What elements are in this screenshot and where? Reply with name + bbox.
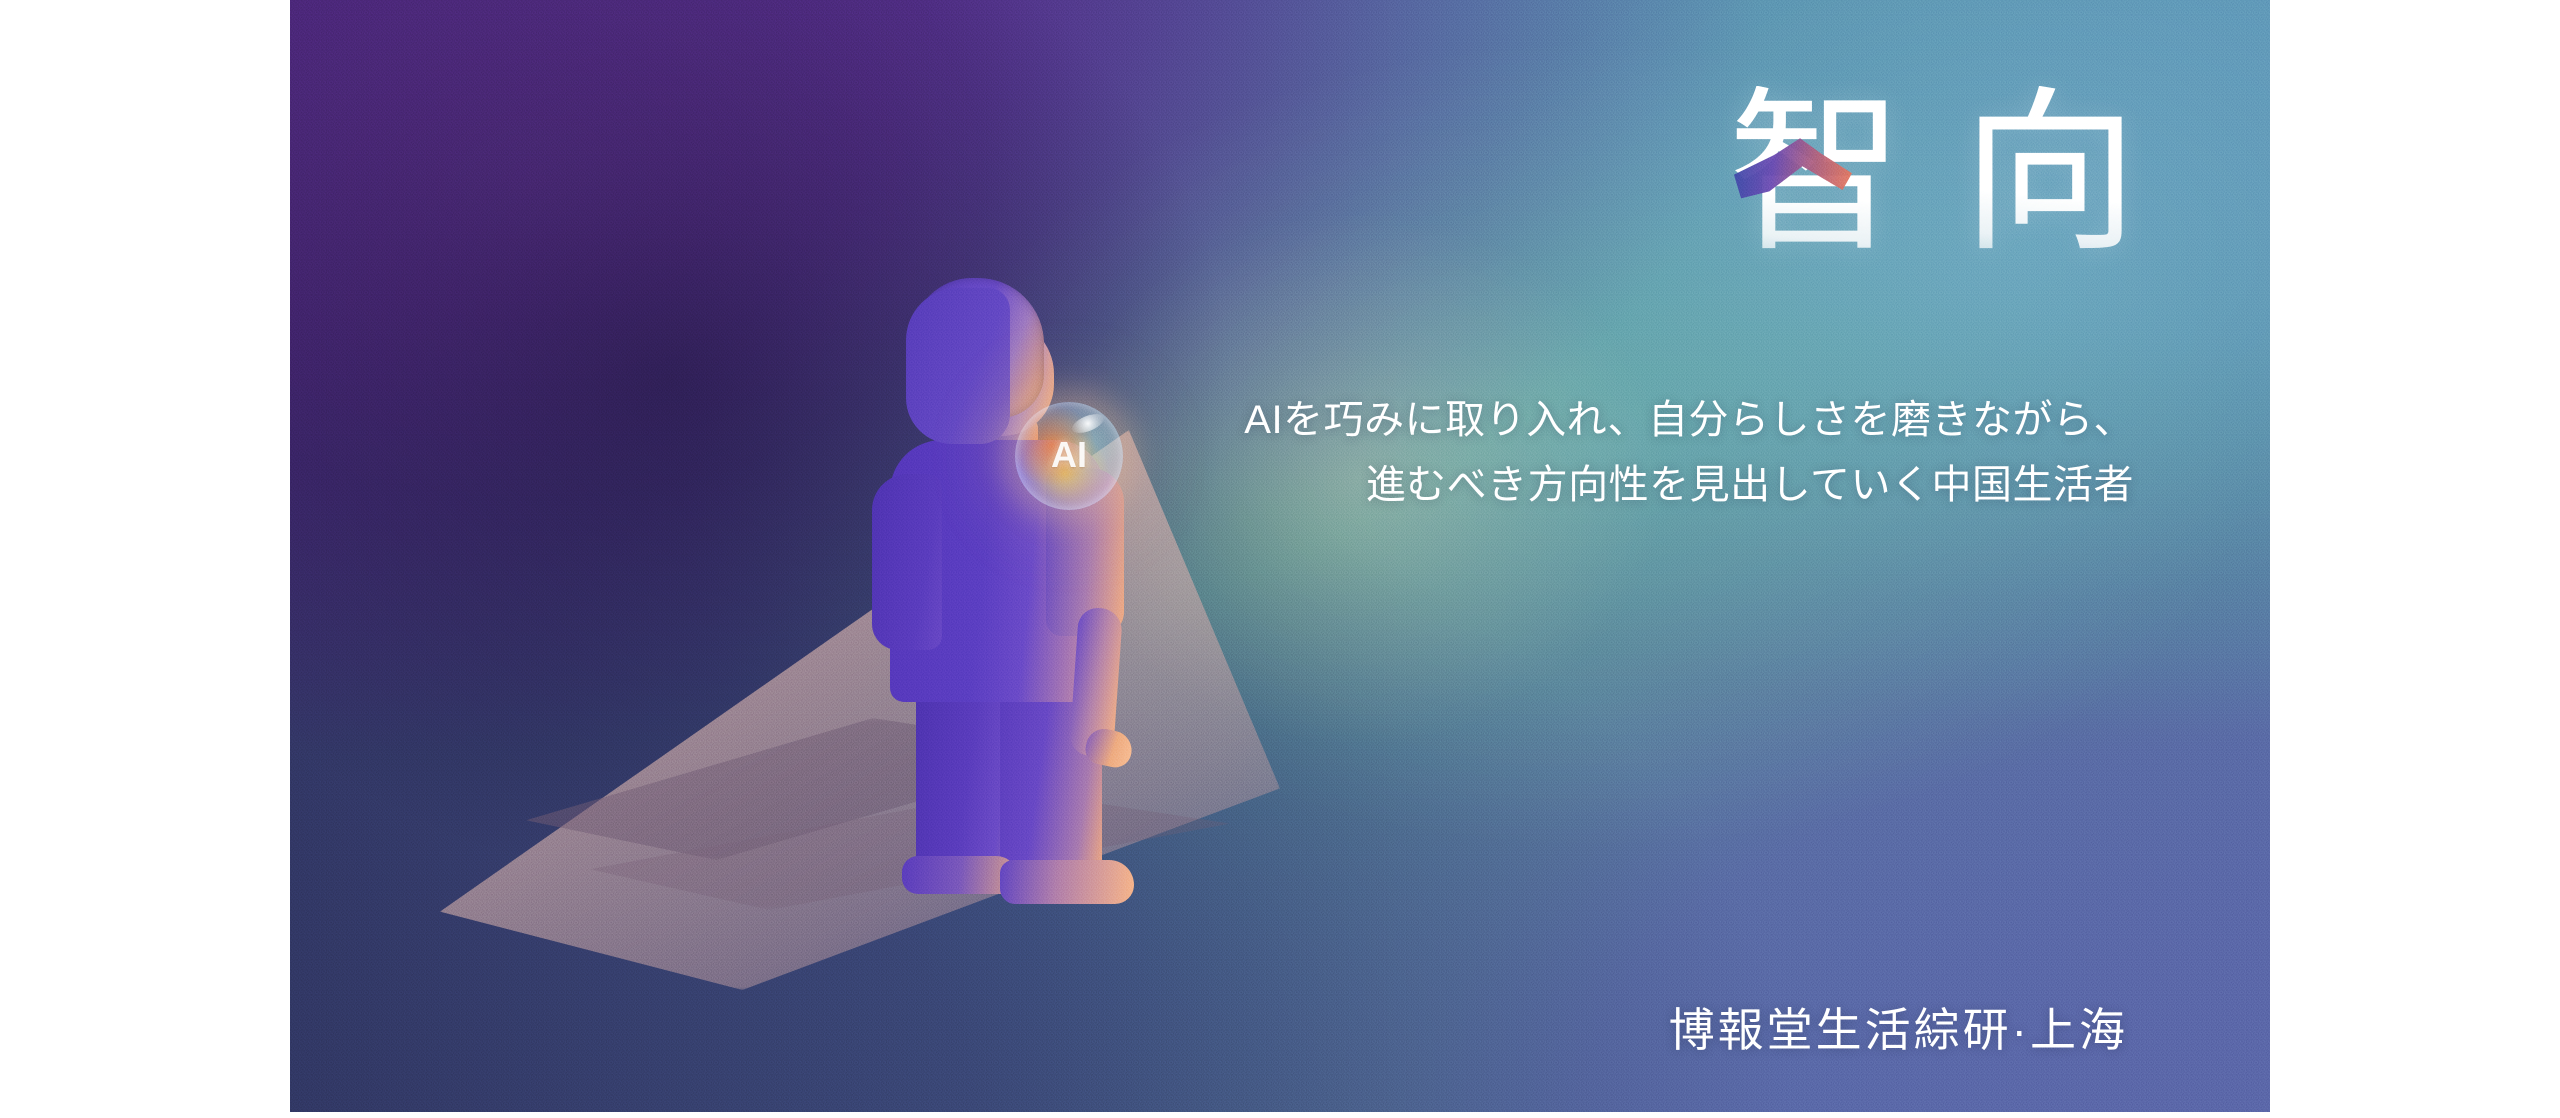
subtitle-line-2: 進むべき方向性を見出していく中国生活者 xyxy=(1244,453,2134,518)
subtitle-block: AIを巧みに取り入れ、自分らしさを磨きながら、 進むべき方向性を見出していく中国… xyxy=(1244,388,2134,518)
headline-char-2: 向 xyxy=(1962,86,2138,262)
poster-slide: AI 智 向 AIを巧みに取り入れ、自分らしさを磨きながら、 進むべき方向性を見… xyxy=(290,0,2270,1112)
person-sleeve-left xyxy=(872,474,942,650)
headline-char-1: 智 xyxy=(1728,86,1904,262)
page-title: 智 向 xyxy=(1728,86,2138,262)
screenshot-stage: AI 智 向 AIを巧みに取り入れ、自分らしさを磨きながら、 進むべき方向性を見… xyxy=(0,0,2560,1118)
ai-bubble-icon: AI xyxy=(1015,402,1123,510)
subtitle-line-1: AIを巧みに取り入れ、自分らしさを磨きながら、 xyxy=(1244,388,2134,453)
person-shoe-right xyxy=(1000,860,1134,904)
person-hair-front xyxy=(906,288,1010,444)
standing-person-illustration xyxy=(850,278,1180,878)
brand-footer: 博報堂生活綜研·上海 xyxy=(1669,994,2128,1060)
orb-label: AI xyxy=(1015,402,1123,510)
person-leg-left xyxy=(916,682,1012,882)
